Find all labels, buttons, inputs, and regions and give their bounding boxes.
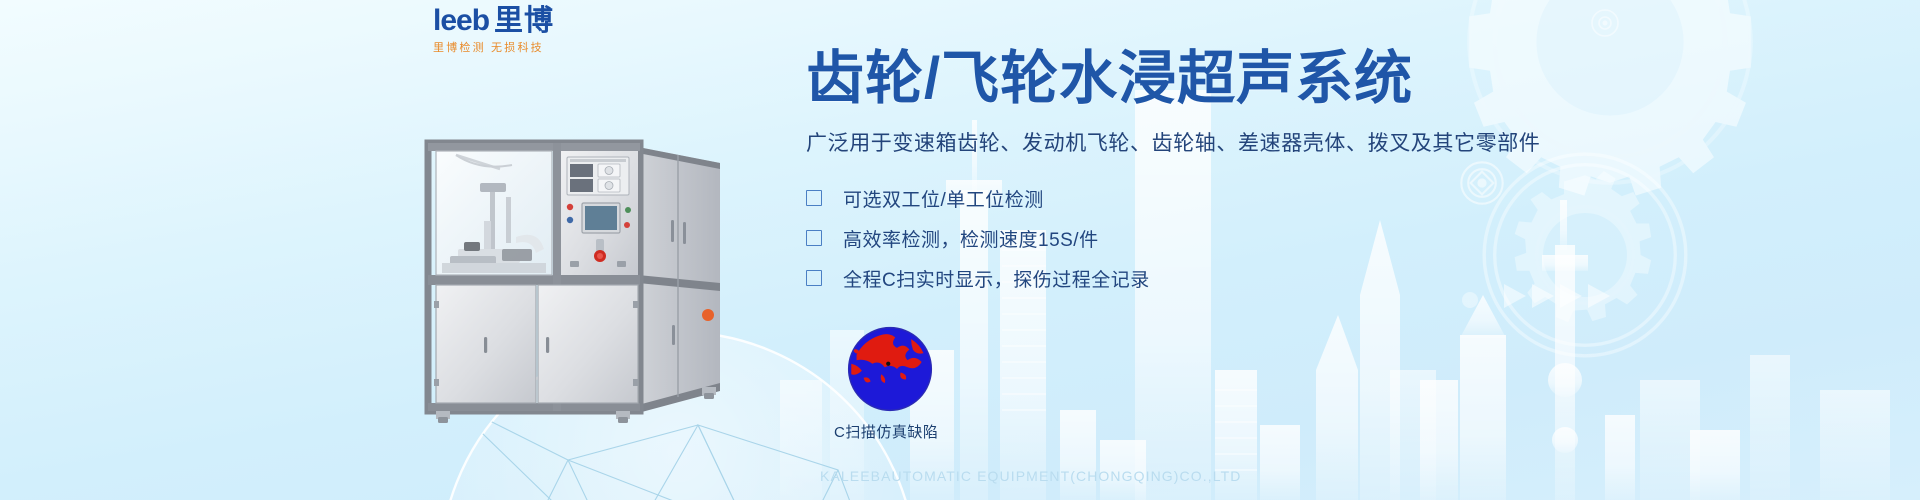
cscan-figure: C扫描仿真缺陷 bbox=[834, 325, 1014, 442]
gear-tiny-icon bbox=[1590, 8, 1620, 38]
logo-tagline: 里博检测 无损科技 bbox=[433, 39, 643, 55]
feature-list: 可选双工位/单工位检测 高效率检测，检测速度15S/件 全程C扫实时显示，探伤过… bbox=[806, 178, 1806, 298]
feature-label: 全程C扫实时显示，探伤过程全记录 bbox=[843, 265, 1150, 292]
hero-banner: leeb里博 里博检测 无损科技 bbox=[0, 0, 1920, 500]
page-title: 齿轮/飞轮水浸超声系统 bbox=[806, 44, 1806, 114]
feature-label: 高效率检测，检测速度15S/件 bbox=[843, 225, 1099, 252]
feature-item: 全程C扫实时显示，探伤过程全记录 bbox=[806, 258, 1806, 298]
company-footer: KALEEBAUTOMATIC EQUIPMENT(CHONGQING)CO.,… bbox=[820, 468, 1241, 484]
cscan-caption: C扫描仿真缺陷 bbox=[834, 421, 1014, 442]
checkbox-icon bbox=[806, 270, 822, 286]
page-subtitle: 广泛用于变速箱齿轮、发动机飞轮、齿轮轴、差速器壳体、拨叉及其它零部件 bbox=[806, 130, 1806, 158]
machine-photo bbox=[420, 125, 750, 425]
logo-chinese: 里博 bbox=[494, 5, 554, 37]
brand-logo[interactable]: leeb里博 里博检测 无损科技 bbox=[433, 6, 643, 54]
cscan-image bbox=[846, 325, 934, 413]
feature-label: 可选双工位/单工位检测 bbox=[843, 185, 1044, 212]
checkbox-icon bbox=[806, 230, 822, 246]
checkbox-icon bbox=[806, 190, 822, 206]
feature-item: 可选双工位/单工位检测 bbox=[806, 178, 1806, 218]
hero-content: 齿轮/飞轮水浸超声系统 广泛用于变速箱齿轮、发动机飞轮、齿轮轴、差速器壳体、拨叉… bbox=[806, 44, 1806, 298]
logo-latin: leeb bbox=[433, 4, 489, 37]
logo-wordmark: leeb里博 bbox=[433, 6, 643, 36]
feature-item: 高效率检测，检测速度15S/件 bbox=[806, 218, 1806, 258]
